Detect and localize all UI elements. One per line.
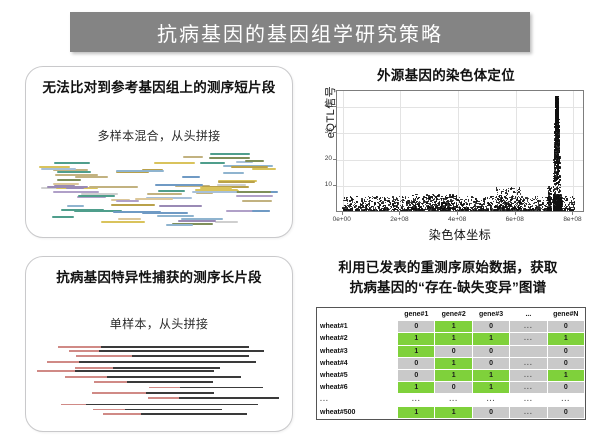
chart-data-point bbox=[484, 202, 485, 203]
table-corner-cell bbox=[318, 309, 398, 321]
chart-data-point bbox=[554, 177, 555, 178]
chart-data-point bbox=[351, 197, 352, 198]
chart-x-tick-label: 2e+08 bbox=[379, 216, 419, 223]
chart-data-point bbox=[481, 205, 483, 207]
pav-cell: 1 bbox=[472, 382, 509, 394]
chart-data-point bbox=[447, 197, 449, 199]
chart-data-point bbox=[571, 209, 573, 211]
chart-data-point bbox=[407, 207, 409, 209]
chart-data-point bbox=[556, 189, 557, 190]
long-read-fragment bbox=[93, 409, 222, 411]
read-fragment bbox=[53, 183, 79, 185]
chart-data-point bbox=[433, 210, 434, 211]
read-fragment bbox=[209, 157, 250, 159]
row-header-cell: wheat#1 bbox=[318, 321, 398, 333]
chart-data-point bbox=[357, 210, 358, 211]
chart-data-point bbox=[510, 206, 511, 207]
chart-data-point bbox=[499, 206, 501, 208]
chart-y-tick-label: 40 bbox=[300, 102, 332, 109]
chart-data-point bbox=[525, 197, 527, 199]
chart-data-point bbox=[445, 206, 447, 208]
chart-data-point bbox=[361, 204, 362, 205]
pav-cell: 0 bbox=[547, 406, 584, 418]
chart-data-point bbox=[508, 210, 509, 211]
chart-data-point bbox=[361, 200, 362, 201]
chart-data-point bbox=[417, 194, 418, 195]
chart-gridline bbox=[343, 91, 344, 211]
table-row: wheat#2111...1 bbox=[318, 333, 585, 345]
read-fragment bbox=[157, 215, 194, 217]
chart-data-point bbox=[542, 206, 543, 207]
chart-data-point bbox=[459, 197, 460, 198]
chart-data-point bbox=[496, 187, 497, 188]
chart-data-point bbox=[374, 203, 375, 204]
chart-data-point bbox=[558, 139, 560, 141]
chart-data-point bbox=[483, 203, 485, 205]
pav-cell: ... bbox=[547, 394, 584, 406]
chart-data-point bbox=[556, 201, 558, 203]
long-read-capture-probe bbox=[76, 355, 131, 357]
chart-x-tick-mark bbox=[399, 212, 400, 215]
chart-title: 外源基因的染色体定位 bbox=[300, 64, 592, 84]
read-fragment bbox=[166, 224, 193, 226]
pav-cell: 0 bbox=[472, 321, 509, 333]
pav-matrix-container: gene#1gene#2gene#3...gene#N wheat#1010..… bbox=[316, 307, 586, 420]
chart-data-point bbox=[555, 105, 557, 107]
chart-data-point bbox=[558, 174, 559, 175]
chart-data-point bbox=[358, 209, 359, 210]
chart-data-point bbox=[503, 191, 504, 192]
read-fragment bbox=[183, 156, 203, 158]
read-fragment bbox=[53, 191, 99, 193]
chart-data-point bbox=[554, 180, 555, 181]
chart-y-tick-mark bbox=[333, 106, 336, 107]
chart-x-axis-label: 染色体坐标 bbox=[336, 226, 584, 243]
chart-data-point bbox=[517, 204, 518, 205]
chart-data-point bbox=[554, 124, 555, 125]
row-header-cell: wheat#2 bbox=[318, 333, 398, 345]
pav-cell: ... bbox=[510, 321, 547, 333]
chart-data-point bbox=[555, 191, 557, 193]
chart-data-point bbox=[544, 210, 545, 211]
column-header-gene-3: gene#3 bbox=[472, 309, 509, 321]
pav-cell: 1 bbox=[398, 345, 435, 357]
chart-data-point bbox=[380, 209, 381, 210]
chart-data-point bbox=[402, 197, 403, 198]
panel-long-reads-title: 抗病基因特异性捕获的测序长片段 bbox=[36, 269, 282, 287]
chart-gridline bbox=[573, 91, 574, 211]
chart-data-point bbox=[428, 200, 429, 201]
panel-short-reads: 无法比对到参考基因组上的测序短片段 多样本混合，从头拼接 bbox=[25, 66, 293, 238]
chart-data-point bbox=[453, 200, 454, 201]
pav-cell: 1 bbox=[435, 333, 472, 345]
read-fragment bbox=[252, 168, 276, 170]
pav-cell: ... bbox=[510, 369, 547, 381]
chart-data-point bbox=[504, 209, 505, 210]
long-read-capture-probe bbox=[37, 370, 75, 372]
chart-data-point bbox=[532, 205, 533, 206]
chart-data-point bbox=[548, 202, 549, 203]
chart-data-point bbox=[558, 129, 559, 130]
chart-data-point bbox=[429, 204, 430, 205]
chart-data-point bbox=[561, 204, 563, 206]
chart-data-point bbox=[411, 210, 412, 211]
chart-data-point bbox=[558, 194, 560, 196]
chart-data-point bbox=[463, 204, 464, 205]
chart-data-point bbox=[496, 189, 498, 191]
chart-data-point bbox=[426, 209, 427, 210]
chart-data-point bbox=[371, 207, 372, 208]
chart-data-point bbox=[468, 210, 469, 211]
long-read-fragment bbox=[149, 387, 263, 389]
pav-cell: 0 bbox=[435, 382, 472, 394]
pav-cell: 0 bbox=[472, 345, 509, 357]
chart-data-point bbox=[344, 205, 345, 206]
chart-data-point bbox=[392, 196, 394, 198]
chart-data-point bbox=[396, 209, 397, 210]
chart-data-point bbox=[439, 199, 440, 200]
chart-data-point bbox=[531, 209, 532, 210]
chart-data-point bbox=[451, 199, 452, 200]
table-row: .................. bbox=[318, 394, 585, 406]
long-read-fragment bbox=[75, 367, 220, 369]
chart-data-point bbox=[564, 202, 565, 203]
chart-data-point bbox=[374, 209, 376, 211]
read-fragment bbox=[89, 186, 138, 188]
read-fragment bbox=[135, 198, 173, 200]
long-read-capture-probe bbox=[75, 367, 113, 369]
chart-data-point bbox=[560, 185, 561, 186]
chart-data-point bbox=[460, 203, 461, 204]
chart-data-point bbox=[365, 203, 366, 204]
pav-cell: ... bbox=[510, 406, 547, 418]
chart-data-point bbox=[550, 209, 551, 210]
chart-data-point bbox=[358, 206, 360, 208]
read-fragment bbox=[75, 176, 108, 178]
chart-data-point bbox=[574, 207, 575, 208]
chart-data-point bbox=[527, 200, 528, 201]
chart-data-point bbox=[473, 197, 474, 198]
chart-data-point bbox=[506, 195, 507, 196]
chart-data-point bbox=[564, 210, 565, 211]
chart-data-point bbox=[558, 103, 559, 104]
pav-matrix-table: gene#1gene#2gene#3...gene#N wheat#1010..… bbox=[317, 308, 585, 419]
read-fragment bbox=[159, 205, 201, 207]
column-header-gene-N: gene#N bbox=[547, 309, 584, 321]
read-fragment bbox=[200, 187, 232, 189]
pav-heading-line-2: 抗病基因的“存在-缺失变异”图谱 bbox=[300, 278, 596, 298]
read-fragment bbox=[231, 166, 268, 168]
chart-x-tick-label: 4e+08 bbox=[437, 216, 477, 223]
panel-short-reads-title: 无法比对到参考基因组上的测序短片段 bbox=[36, 79, 282, 97]
chart-data-point bbox=[404, 200, 405, 201]
chart-data-point bbox=[450, 194, 452, 196]
pav-cell: ... bbox=[435, 394, 472, 406]
chart-gridline bbox=[400, 91, 401, 211]
pav-cell: 1 bbox=[547, 369, 584, 381]
chart-data-point bbox=[520, 190, 521, 191]
chart-data-point bbox=[497, 192, 498, 193]
chart-data-point bbox=[558, 145, 559, 146]
chart-data-point bbox=[560, 201, 561, 202]
chart-data-point bbox=[508, 204, 509, 205]
chart-data-point bbox=[347, 203, 348, 204]
chart-data-point bbox=[428, 197, 429, 198]
read-fragment bbox=[223, 172, 244, 174]
chart-data-point bbox=[365, 197, 366, 198]
table-body: wheat#1010...0wheat#2111...1wheat#31000w… bbox=[318, 321, 585, 419]
chart-data-point bbox=[379, 210, 380, 211]
chart-data-point bbox=[559, 157, 560, 158]
chart-data-point bbox=[553, 202, 555, 204]
chart-x-tick-label: 6e+08 bbox=[495, 216, 535, 223]
pav-cell bbox=[510, 345, 547, 357]
slide-canvas: 抗病基因的基因组学研究策略 无法比对到参考基因组上的测序短片段 多样本混合，从头… bbox=[0, 0, 600, 443]
slide-title-banner: 抗病基因的基因组学研究策略 bbox=[70, 12, 530, 52]
pav-cell: 1 bbox=[435, 321, 472, 333]
chart-y-tick-label: 10 bbox=[300, 181, 332, 188]
pav-cell: 0 bbox=[547, 321, 584, 333]
pav-cell: 1 bbox=[435, 406, 472, 418]
read-fragment bbox=[41, 168, 76, 170]
long-read-fragment bbox=[148, 397, 278, 399]
pav-cell: ... bbox=[510, 333, 547, 345]
long-read-capture-probe bbox=[65, 376, 107, 378]
chart-data-point bbox=[343, 209, 345, 211]
chart-y-tick-mark bbox=[333, 159, 336, 160]
chart-data-point bbox=[437, 205, 439, 207]
chart-data-point bbox=[489, 198, 490, 199]
pav-cell: 0 bbox=[547, 382, 584, 394]
column-header-gene-2: gene#2 bbox=[435, 309, 472, 321]
chart-data-point bbox=[551, 199, 552, 200]
pav-cell: ... bbox=[510, 382, 547, 394]
chart-x-tick-mark bbox=[342, 212, 343, 215]
chart-data-point bbox=[449, 197, 450, 198]
chart-data-point bbox=[385, 202, 386, 203]
chart-data-point bbox=[467, 196, 468, 197]
chart-data-point bbox=[405, 197, 407, 199]
chart-data-point bbox=[505, 192, 506, 193]
pav-cell: 0 bbox=[398, 321, 435, 333]
long-read-fragment bbox=[58, 346, 249, 348]
chart-data-point bbox=[550, 203, 552, 205]
chart-y-tick-label: 30 bbox=[300, 128, 332, 135]
chart-data-point bbox=[558, 128, 559, 129]
chart-data-point bbox=[557, 161, 559, 163]
chart-data-point bbox=[405, 209, 406, 210]
chart-data-point bbox=[418, 208, 419, 209]
chart-data-point bbox=[356, 196, 358, 198]
read-fragment bbox=[127, 170, 165, 172]
chart-data-point bbox=[554, 168, 555, 169]
table-row: wheat#4010...0 bbox=[318, 357, 585, 369]
pav-cell: 0 bbox=[398, 357, 435, 369]
chart-data-point bbox=[543, 200, 544, 201]
chart-data-point bbox=[537, 196, 538, 197]
chart-data-point bbox=[558, 96, 559, 97]
chart-data-point bbox=[569, 204, 570, 205]
read-fragment bbox=[192, 191, 237, 193]
chart-data-point bbox=[528, 198, 529, 199]
chart-data-point bbox=[537, 200, 539, 202]
chart-data-point bbox=[565, 204, 566, 205]
read-fragment bbox=[52, 216, 74, 218]
chart-data-point bbox=[555, 134, 557, 136]
chart-data-point bbox=[492, 199, 493, 200]
chart-data-point bbox=[558, 208, 559, 209]
chart-data-point bbox=[346, 209, 347, 210]
chart-data-point bbox=[553, 209, 555, 211]
chart-data-point bbox=[499, 189, 500, 190]
row-header-cell: ... bbox=[318, 394, 398, 406]
chart-data-point bbox=[471, 196, 473, 198]
long-read-capture-probe bbox=[92, 392, 146, 394]
table-row: wheat#5011...1 bbox=[318, 369, 585, 381]
chart-data-point bbox=[458, 210, 459, 211]
chart-data-point bbox=[520, 194, 521, 195]
long-read-fragment bbox=[92, 392, 214, 394]
chart-data-point bbox=[481, 200, 482, 201]
read-fragment bbox=[210, 153, 250, 155]
read-fragment bbox=[147, 193, 182, 195]
chart-data-point bbox=[372, 198, 373, 199]
chart-data-point bbox=[558, 125, 559, 126]
chart-data-point bbox=[566, 199, 568, 201]
chart-plot-area bbox=[336, 90, 584, 212]
chart-data-point bbox=[498, 199, 500, 201]
read-fragment bbox=[217, 184, 246, 186]
table-row: wheat#1010...0 bbox=[318, 321, 585, 333]
chart-data-point bbox=[556, 100, 558, 102]
panel-short-reads-subtitle: 多样本混合，从头拼接 bbox=[36, 127, 282, 144]
chart-data-point bbox=[467, 208, 468, 209]
chart-gridline bbox=[337, 160, 583, 161]
read-fragment bbox=[245, 160, 264, 162]
short-read-fragments-illustration bbox=[36, 151, 282, 229]
chart-data-point bbox=[371, 201, 372, 202]
chart-data-point bbox=[369, 197, 370, 198]
read-fragment bbox=[236, 195, 273, 197]
chart-data-point bbox=[517, 193, 518, 194]
read-fragment bbox=[57, 179, 81, 181]
chart-data-point bbox=[556, 147, 557, 148]
column-header-gene-1: gene#1 bbox=[398, 309, 435, 321]
chart-data-point bbox=[520, 193, 521, 194]
chart-data-point bbox=[508, 190, 509, 191]
chart-data-point bbox=[450, 199, 451, 200]
chart-data-point bbox=[485, 210, 486, 211]
long-read-fragment bbox=[61, 404, 258, 406]
long-read-fragment bbox=[47, 361, 255, 363]
chart-data-point bbox=[558, 181, 559, 182]
chart-data-point bbox=[364, 201, 365, 202]
chart-data-point bbox=[525, 206, 526, 207]
chart-y-tick-mark bbox=[333, 132, 336, 133]
chart-data-point bbox=[531, 200, 532, 201]
chart-data-point bbox=[432, 204, 433, 205]
chart-data-point bbox=[518, 207, 519, 208]
chart-data-point bbox=[370, 207, 371, 208]
long-read-capture-probe bbox=[69, 350, 99, 352]
chart-gridline bbox=[337, 133, 583, 134]
chart-gridline bbox=[458, 91, 459, 211]
panel-long-reads-subtitle: 单样本，从头拼接 bbox=[36, 315, 282, 332]
chart-data-point bbox=[479, 210, 481, 212]
chart-data-point bbox=[426, 202, 428, 204]
chart-data-point bbox=[555, 185, 556, 186]
chart-data-point bbox=[416, 201, 417, 202]
chart-data-point bbox=[557, 131, 558, 132]
chart-data-point bbox=[474, 208, 475, 209]
chart-data-point bbox=[507, 208, 508, 209]
chart-data-point bbox=[450, 205, 452, 207]
long-read-capture-probe bbox=[93, 409, 124, 411]
chart-y-tick-label: 20 bbox=[300, 155, 332, 162]
chart-data-point bbox=[559, 190, 561, 192]
chart-data-point bbox=[511, 204, 512, 205]
chart-data-point bbox=[403, 197, 404, 198]
chart-data-point bbox=[501, 210, 502, 211]
chart-data-point bbox=[374, 209, 375, 210]
chart-data-point bbox=[354, 206, 355, 207]
chart-data-point bbox=[408, 197, 409, 198]
chart-data-point bbox=[416, 196, 417, 197]
chart-data-point bbox=[466, 203, 468, 205]
chart-data-point bbox=[548, 195, 550, 197]
chart-data-point bbox=[426, 197, 427, 198]
chart-data-point bbox=[399, 196, 400, 197]
read-fragment bbox=[182, 176, 200, 178]
row-header-cell: wheat#4 bbox=[318, 357, 398, 369]
chart-data-point bbox=[362, 207, 363, 208]
read-fragment bbox=[111, 204, 156, 206]
pav-heading-line-1: 利用已发表的重测序原始数据，获取 bbox=[300, 258, 596, 278]
chart-data-point bbox=[556, 180, 557, 181]
chart-data-point bbox=[525, 203, 526, 204]
chart-data-point bbox=[483, 200, 485, 202]
chart-data-point bbox=[409, 209, 410, 210]
chart-data-point bbox=[421, 208, 422, 209]
chart-data-point bbox=[443, 200, 444, 201]
column-header-...: ... bbox=[510, 309, 547, 321]
chart-data-point bbox=[554, 161, 555, 162]
pav-cell: ... bbox=[510, 394, 547, 406]
long-read-fragment bbox=[76, 355, 249, 357]
chart-data-point bbox=[509, 197, 510, 198]
chart-data-point bbox=[441, 207, 442, 208]
chart-data-point bbox=[537, 210, 538, 211]
chart-data-point bbox=[398, 207, 399, 208]
chart-data-point bbox=[540, 210, 541, 211]
read-fragment bbox=[78, 195, 114, 197]
chart-data-point bbox=[369, 200, 370, 201]
read-fragment bbox=[200, 162, 226, 164]
long-read-fragments-illustration bbox=[36, 341, 282, 423]
chart-data-point bbox=[437, 195, 439, 197]
chart-data-point bbox=[414, 201, 415, 202]
page-title: 抗病基因的基因组学研究策略 bbox=[157, 18, 443, 47]
chart-data-point bbox=[547, 209, 549, 211]
chart-data-point bbox=[559, 151, 560, 152]
table-header-row: gene#1gene#2gene#3...gene#N bbox=[318, 309, 585, 321]
chart-data-point bbox=[409, 204, 411, 206]
chart-data-point bbox=[414, 200, 415, 201]
chart-data-point bbox=[472, 210, 473, 211]
chart-data-point bbox=[557, 134, 558, 135]
chart-data-point bbox=[412, 195, 413, 196]
chart-data-point bbox=[556, 139, 557, 140]
